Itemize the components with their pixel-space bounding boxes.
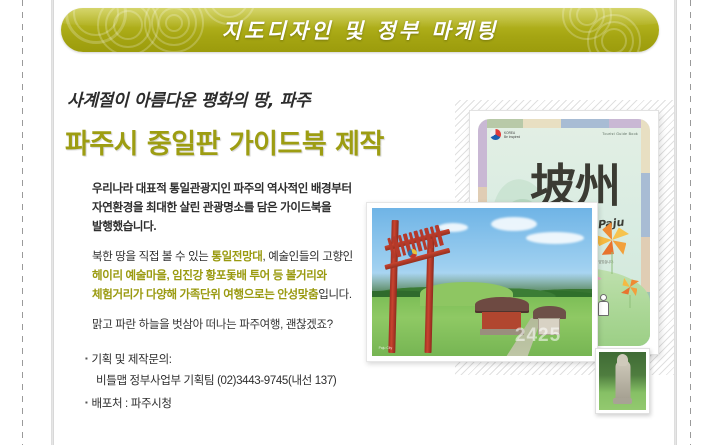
- contact-inquiry-detail: 비틀맵 정부사업부 기획팀 (02)3443-9745(내선 137): [85, 371, 415, 392]
- p2-l3-post: 입니다.: [318, 289, 352, 301]
- paragraph-2: 북한 땅을 직접 볼 수 있는 통일전망대, 예술인들의 고향인 헤이리 예술마…: [92, 248, 412, 305]
- cover-border-block: [561, 119, 609, 128]
- left-border-rule: [51, 0, 54, 445]
- paragraph-3-line-1: 맑고 파란 하늘을 벗삼아 떠나는 파주여행, 괜찮겠죠?: [92, 316, 412, 335]
- p2-l1-pre: 북한 땅을 직접 볼 수 있는: [92, 251, 211, 263]
- paragraph-3: 맑고 파란 하늘을 벗삼아 떠나는 파주여행, 괜찮겠죠?: [92, 316, 412, 335]
- pinwheel-icon: [598, 226, 626, 274]
- p2-l1-post: , 예술인들의 고향인: [263, 251, 353, 263]
- p2-l2-highlight: 헤이리 예술마을, 임진강 황포돛배 투어 등 볼거리와: [92, 270, 327, 282]
- paragraph-2-line-1: 북한 땅을 직접 볼 수 있는 통일전망대, 예술인들의 고향인: [92, 248, 412, 267]
- cover-border-block: [641, 173, 650, 237]
- muninseok-statue: [615, 360, 630, 400]
- hongsalmun-gate: [385, 220, 473, 353]
- paragraph-2-line-3: 체험거리가 다양해 가족단위 여행으로는 안성맞춤입니다.: [92, 286, 412, 305]
- contact-distribution: 배포처 : 파주시청: [85, 392, 415, 415]
- cloud-shape: [526, 232, 584, 244]
- photo-credit: Paju City: [379, 346, 393, 350]
- pinwheel-icon: [622, 278, 637, 308]
- photo-royal-tomb: 2425 Paju City: [366, 202, 598, 362]
- cover-english-label: Tourist Guide Book: [602, 132, 638, 136]
- cover-border-block: [478, 119, 487, 187]
- taegeuk-icon: [490, 129, 501, 140]
- right-border-rule: [674, 0, 677, 445]
- paragraph-2-line-2: 헤이리 예술마을, 임진강 황포돛배 투어 등 볼거리와: [92, 267, 412, 286]
- photo-stone-statue: [595, 348, 650, 414]
- p2-l1-highlight: 통일전망대: [211, 251, 262, 263]
- body-copy: 우리나라 대표적 통일관광지인 파주의 역사적인 배경부터 자연환경을 최대한 …: [92, 180, 412, 346]
- cloud-shape: [491, 217, 537, 231]
- section-header-banner: 지도디자인 및 정부 마케팅: [61, 8, 659, 52]
- paragraph-1: 우리나라 대표적 통일관광지인 파주의 역사적인 배경부터 자연환경을 최대한 …: [92, 180, 412, 237]
- paragraph-1-line-3: 발행했습니다.: [92, 218, 412, 237]
- cover-border-block: [641, 119, 650, 173]
- cover-border-block: [641, 237, 650, 291]
- paragraph-1-line-1: 우리나라 대표적 통일관광지인 파주의 역사적인 배경부터: [92, 180, 412, 199]
- left-dashed-rule: [22, 0, 23, 445]
- stone-figure-icon: [598, 294, 609, 316]
- p2-l3-highlight: 체험거리가 다양해 가족단위 여행으로는 안성맞춤: [92, 289, 318, 301]
- content-area: 지도디자인 및 정부 마케팅 사계절이 아름다운 평화의 땅, 파주 파주시 중…: [55, 0, 674, 445]
- logo-line-2: Be Inspired: [504, 135, 520, 139]
- banner-title: 지도디자인 및 정부 마케팅: [61, 8, 659, 52]
- cover-border-block: [523, 119, 561, 128]
- photo-watermark: 2425: [515, 325, 561, 347]
- paragraph-1-line-2: 자연환경을 최대한 살린 관광명소를 담은 가이드북을: [92, 199, 412, 218]
- page-title: 파주시 중일판 가이드북 제작: [65, 122, 384, 161]
- korea-tourism-logo: KOREA Be Inspired: [490, 129, 520, 140]
- right-dashed-rule: [690, 0, 691, 445]
- page-subtitle: 사계절이 아름다운 평화의 땅, 파주: [67, 86, 310, 111]
